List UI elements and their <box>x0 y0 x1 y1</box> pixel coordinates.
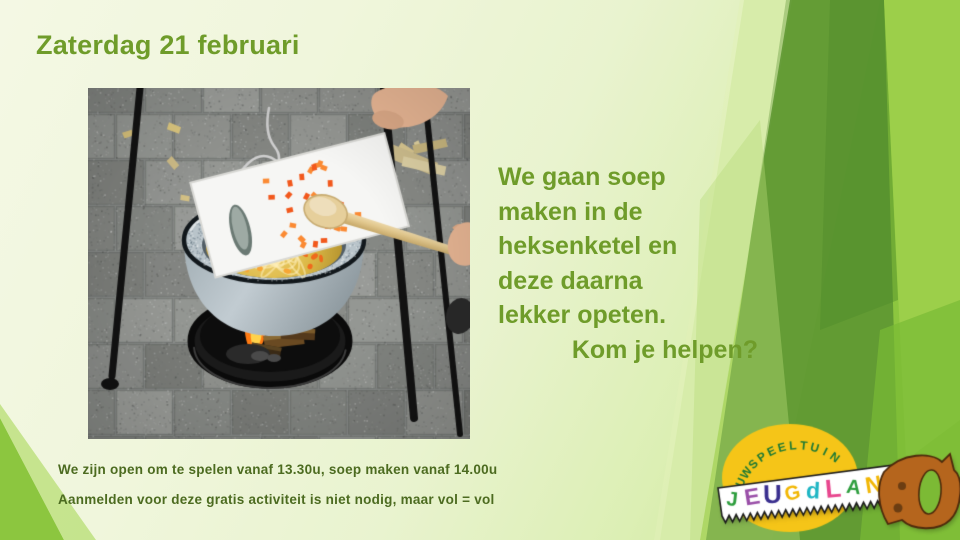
activity-photo-canvas <box>88 88 470 439</box>
info-line-opening-times: We zijn open om te spelen vanaf 13.30u, … <box>58 462 497 477</box>
headline-line-5: lekker opeten. <box>498 298 758 333</box>
headline-line-1: We gaan soep <box>498 160 758 195</box>
headline-line-4: deze daarna <box>498 264 758 299</box>
headline-line-3: heksenketel en <box>498 229 758 264</box>
info-line-registration: Aanmelden voor deze gratis activiteit is… <box>58 492 495 507</box>
headline-text: We gaan soep maken in de heksenketel en … <box>498 160 758 367</box>
page-title: Zaterdag 21 februari <box>36 30 300 61</box>
right-band-darker-overlay <box>820 0 898 330</box>
presentation-slide: Zaterdag 21 februari We gaan soep maken … <box>0 0 960 540</box>
bouwspeeltuin-jeugdland-logo <box>706 412 960 540</box>
headline-line-2: maken in de <box>498 195 758 230</box>
headline-line-6: Kom je helpen? <box>498 333 758 368</box>
logo-canvas <box>706 412 960 540</box>
left-accent-band <box>0 418 64 540</box>
activity-photo <box>88 88 470 439</box>
right-band-highlight <box>884 0 960 460</box>
